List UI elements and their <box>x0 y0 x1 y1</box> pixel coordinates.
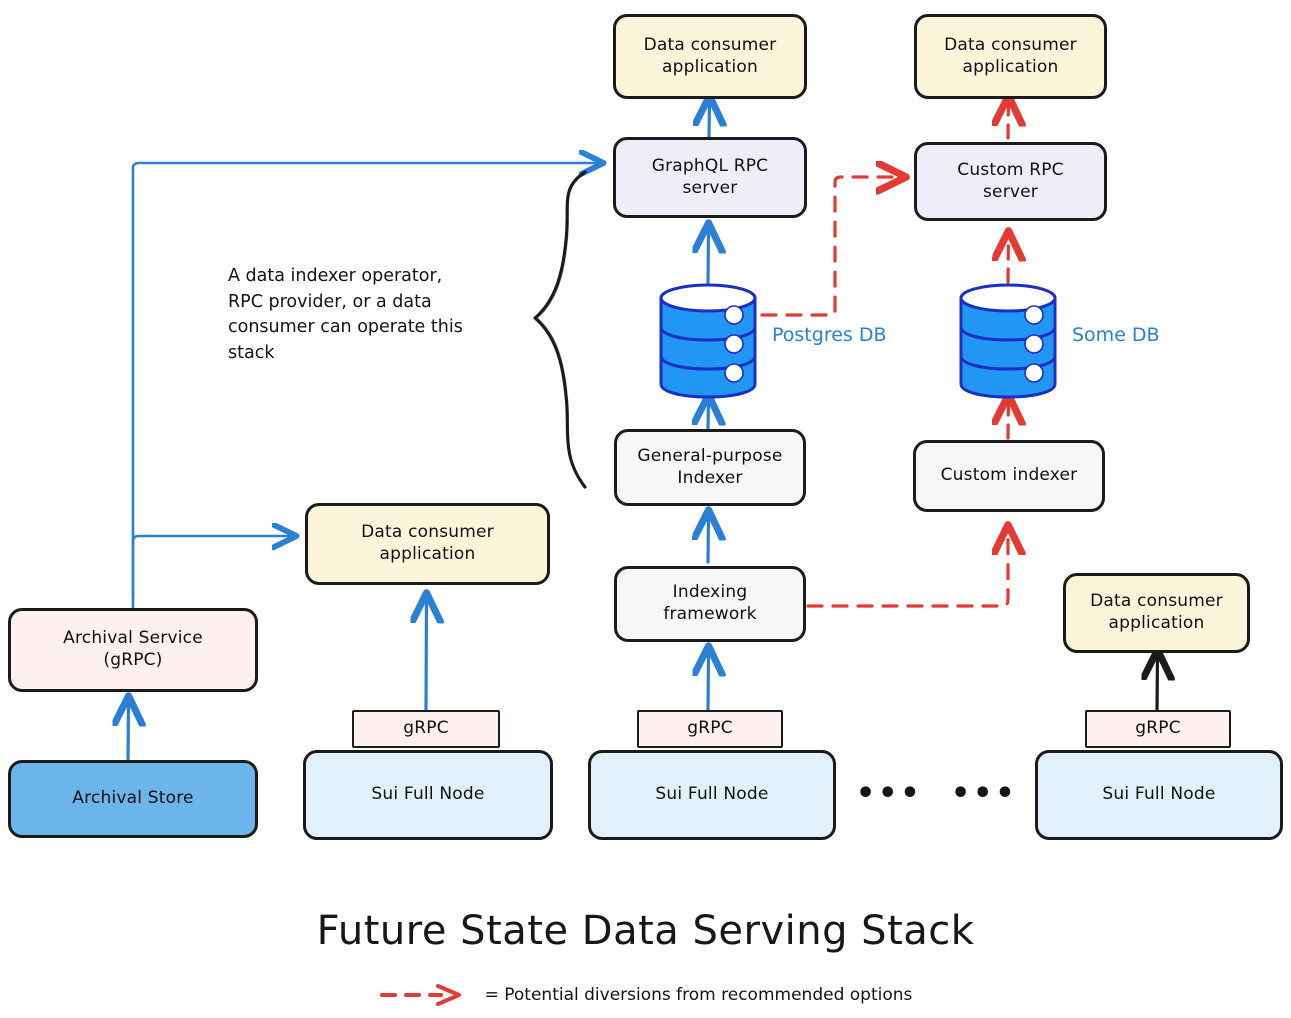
node-label: General-purpose Indexer <box>637 446 782 490</box>
legend-label: = Potential diversions from recommended … <box>485 985 913 1005</box>
arrow-grpc1-to-consumer <box>426 596 427 711</box>
node-grpc-3[interactable]: gRPC <box>1085 710 1231 748</box>
node-label: Archival Store <box>72 788 193 810</box>
node-label: Sui Full Node <box>1102 784 1215 806</box>
node-label: gRPC <box>687 718 733 740</box>
arrow-archival-to-consumer <box>133 536 294 596</box>
arrow-postgres-to-graphql <box>708 226 709 285</box>
node-label: Archival Service (gRPC) <box>63 628 203 672</box>
arrow-grpc2-to-framework <box>708 649 709 712</box>
curly-brace <box>535 172 585 487</box>
diagram-title: Future State Data Serving Stack <box>0 908 1291 954</box>
node-label: Sui Full Node <box>371 784 484 806</box>
arrow-framework-to-customindexer <box>808 528 1008 606</box>
node-label: Indexing framework <box>663 582 756 626</box>
database-cylinder-icon <box>655 282 761 400</box>
arrow-store-to-service <box>128 699 129 763</box>
ellipsis-right: ••• <box>951 779 1018 809</box>
node-general-purpose-indexer[interactable]: General-purpose Indexer <box>614 429 806 506</box>
node-label: Data consumer application <box>1090 591 1223 635</box>
node-archival-service[interactable]: Archival Service (gRPC) <box>8 608 258 692</box>
node-graphql-rpc-server[interactable]: GraphQL RPC server <box>613 137 807 218</box>
node-label: GraphQL RPC server <box>652 156 769 200</box>
arrow-customindexer-to-somedb <box>1008 398 1009 438</box>
curly-brace-sketch-overlay <box>537 174 584 485</box>
some-db <box>955 282 1061 404</box>
ellipsis-left: ••• <box>856 779 923 809</box>
node-archival-store[interactable]: Archival Store <box>8 760 258 838</box>
node-data-consumer-application-top-right[interactable]: Data consumer application <box>914 14 1107 99</box>
node-grpc-2[interactable]: gRPC <box>637 710 783 748</box>
arrow-somedb-to-custom-rpc <box>1008 234 1009 282</box>
postgres-db <box>655 282 761 404</box>
node-label: Custom RPC server <box>957 160 1063 204</box>
node-label: Data consumer application <box>361 522 494 566</box>
node-data-consumer-application-right[interactable]: Data consumer application <box>1063 573 1250 653</box>
node-label: Data consumer application <box>644 35 777 79</box>
node-grpc-1[interactable]: gRPC <box>352 710 500 748</box>
diagram-canvas: Postgres DB Some DB Data consumer applic… <box>0 0 1291 1018</box>
some-db-label: Some DB <box>1072 324 1160 346</box>
node-label: Custom indexer <box>941 465 1078 487</box>
arrow-framework-to-indexer <box>708 513 709 562</box>
node-sui-full-node-1[interactable]: Sui Full Node <box>303 750 553 840</box>
arrow-graphql-to-consumer <box>709 99 710 137</box>
node-label: Sui Full Node <box>655 784 768 806</box>
node-data-consumer-application-mid-left[interactable]: Data consumer application <box>305 503 550 585</box>
node-indexing-framework[interactable]: Indexing framework <box>614 566 806 642</box>
diagram-legend: = Potential diversions from recommended … <box>0 982 1291 1008</box>
database-cylinder-icon <box>955 282 1061 400</box>
arrow-grpc3-to-consumer <box>1157 653 1158 712</box>
stack-operator-annotation: A data indexer operator, RPC provider, o… <box>228 264 518 367</box>
red-dashed-arrow-icon <box>379 982 475 1008</box>
node-sui-full-node-2[interactable]: Sui Full Node <box>588 750 836 840</box>
node-label: gRPC <box>1135 718 1181 740</box>
node-custom-indexer[interactable]: Custom indexer <box>913 440 1105 512</box>
postgres-db-label: Postgres DB <box>772 324 887 346</box>
node-label: gRPC <box>403 718 449 740</box>
arrow-customrpc-to-consumer <box>1008 99 1009 138</box>
node-data-consumer-application-top-left[interactable]: Data consumer application <box>613 14 807 99</box>
node-label: Data consumer application <box>944 35 1077 79</box>
node-custom-rpc-server[interactable]: Custom RPC server <box>914 142 1107 221</box>
node-sui-full-node-3[interactable]: Sui Full Node <box>1035 750 1283 840</box>
